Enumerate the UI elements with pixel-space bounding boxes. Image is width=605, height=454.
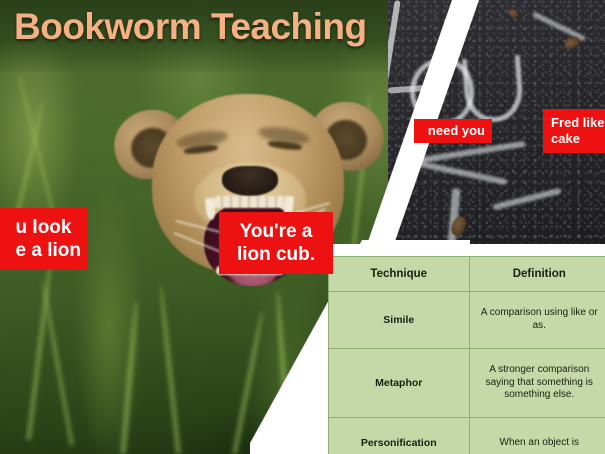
lion-upper-teeth xyxy=(214,196,286,208)
table-row: Metaphor A stronger comparison saying th… xyxy=(329,349,605,418)
slide-canvas: Technique Definition Simile A comparison… xyxy=(0,0,605,454)
technique-term: Simile xyxy=(329,292,470,349)
caption-youre-a-lion-cub: You're a lion cub. xyxy=(219,212,333,274)
caption-fred-likes-cake: Fred like cake xyxy=(543,109,605,153)
technique-definition: A stronger comparison saying that someth… xyxy=(469,349,605,418)
page-title: Bookworm Teaching xyxy=(14,6,367,48)
table-row: Personification When an object is xyxy=(329,418,605,454)
column-header-definition: Definition xyxy=(469,257,605,292)
techniques-table: Technique Definition Simile A comparison… xyxy=(328,256,605,454)
technique-term: Metaphor xyxy=(329,349,470,418)
caption-you-look-like-a-lion: u look e a lion xyxy=(0,208,88,270)
column-header-technique: Technique xyxy=(329,257,470,292)
caption-need-you: need you xyxy=(414,119,492,143)
technique-definition: When an object is xyxy=(469,418,605,454)
lion-nose xyxy=(222,166,278,196)
techniques-table-region: Technique Definition Simile A comparison… xyxy=(300,256,605,454)
technique-definition: A comparison using like or as. xyxy=(469,292,605,349)
table-header-row: Technique Definition xyxy=(329,257,605,292)
table-row: Simile A comparison using like or as. xyxy=(329,292,605,349)
technique-term: Personification xyxy=(329,418,470,454)
